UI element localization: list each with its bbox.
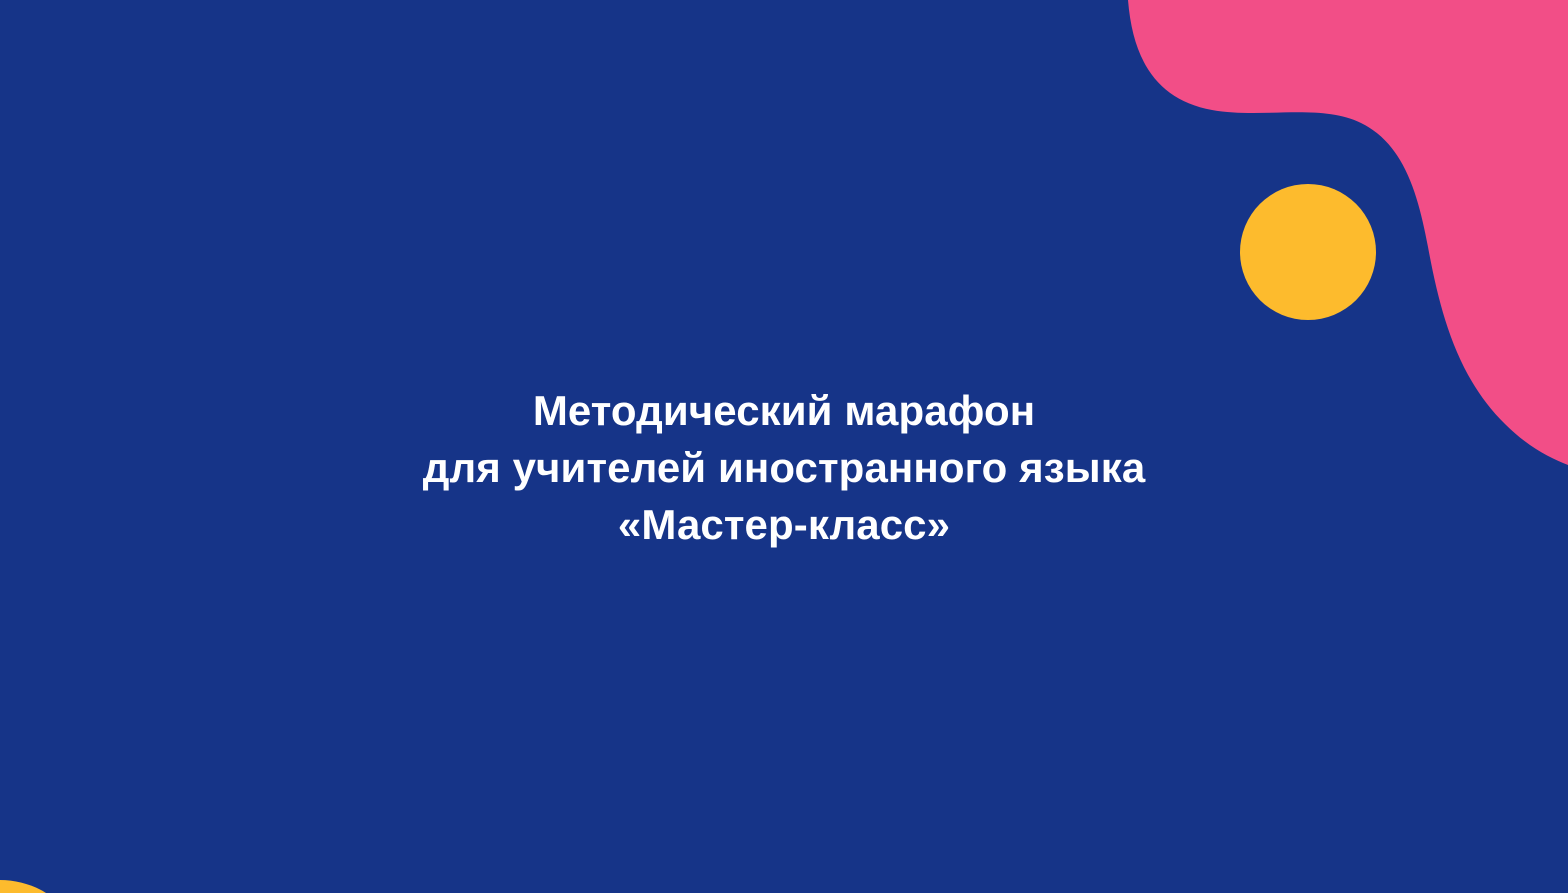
yellow-circle: [1240, 184, 1376, 320]
presentation-slide: Методический марафон для учителей иностр…: [0, 0, 1568, 893]
slide-background-art: [0, 0, 1568, 893]
background-rect: [0, 0, 1568, 893]
